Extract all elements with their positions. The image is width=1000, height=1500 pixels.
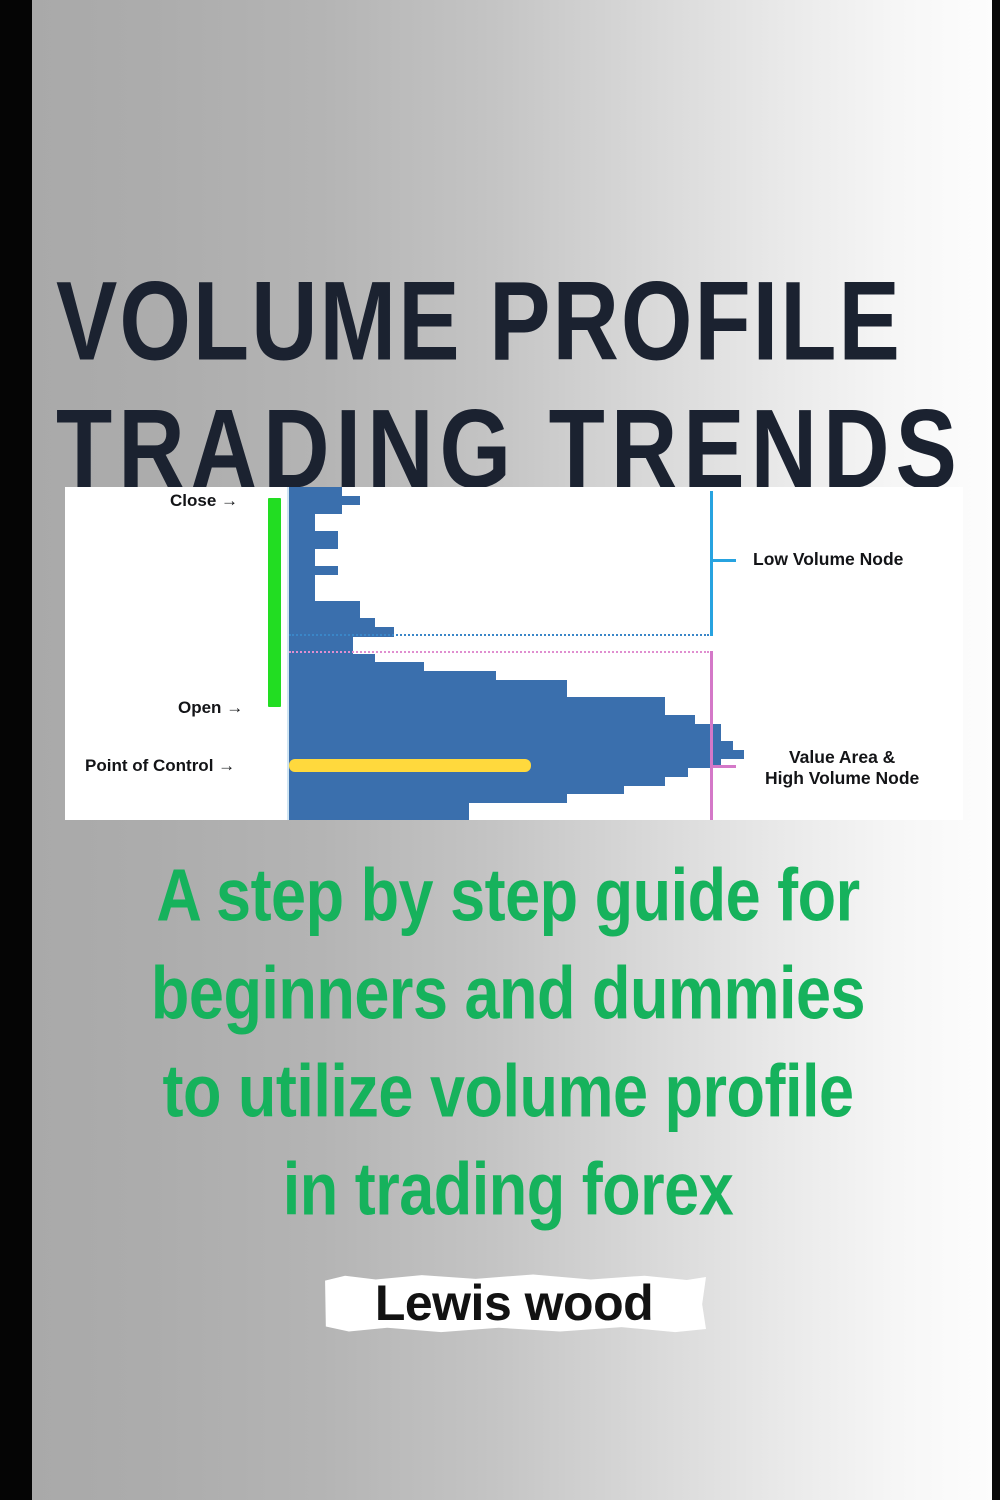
label-poc-text: Point of Control xyxy=(85,756,213,775)
point-of-control-line xyxy=(289,759,531,772)
label-low-volume-node: Low Volume Node xyxy=(753,549,903,570)
spine-right-band xyxy=(992,0,1000,1500)
arrow-right-icon: → xyxy=(218,756,235,775)
candle-body xyxy=(268,498,281,707)
volume-bar xyxy=(289,811,469,820)
label-open: Open → xyxy=(178,697,243,718)
bracket-vertical xyxy=(710,491,713,636)
chart-canvas: Close → Open → Point of Control → Low Vo… xyxy=(65,487,963,820)
label-point-of-control: Point of Control → xyxy=(85,755,235,776)
label-value-area-line1: Value Area & xyxy=(765,747,919,768)
low-volume-node-dotted-line xyxy=(289,634,709,636)
label-close-text: Close xyxy=(170,491,216,510)
bracket-tick xyxy=(710,765,736,768)
label-value-area: Value Area & High Volume Node xyxy=(765,747,919,789)
label-close: Close → xyxy=(170,490,238,511)
arrow-right-icon: → xyxy=(221,491,238,510)
book-cover: VOLUME PROFILE TRADING TRENDS Clo xyxy=(0,0,1000,1500)
label-value-area-line2: High Volume Node xyxy=(765,768,919,789)
bracket-vertical xyxy=(710,651,713,820)
arrow-right-icon: → xyxy=(226,698,243,717)
subtitle-line-4: in trading forex xyxy=(48,1132,968,1248)
volume-profile-chart: Close → Open → Point of Control → Low Vo… xyxy=(65,487,963,820)
bracket-tick xyxy=(710,559,736,562)
spine-left-band xyxy=(0,0,32,1500)
title-line-1: VOLUME PROFILE xyxy=(56,258,966,385)
value-area-dotted-line xyxy=(289,651,709,653)
label-open-text: Open xyxy=(178,698,221,717)
author-name: Lewis wood xyxy=(322,1275,706,1331)
book-title: VOLUME PROFILE TRADING TRENDS xyxy=(56,258,966,490)
book-subtitle: A step by step guide for beginners and d… xyxy=(48,838,968,1230)
